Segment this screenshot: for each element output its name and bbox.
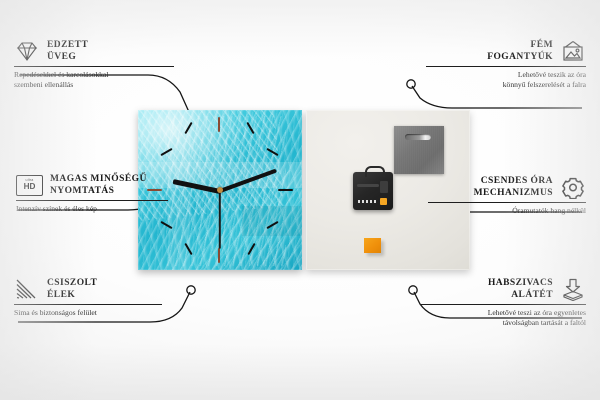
divider <box>420 304 586 305</box>
divider <box>426 66 586 67</box>
feature-desc-2: szembeni ellenállás <box>14 80 174 90</box>
mechanism-label-text <box>358 200 378 203</box>
clock-tick <box>184 122 192 134</box>
mechanism-slit <box>380 181 388 193</box>
divider <box>16 200 168 201</box>
divider <box>14 304 162 305</box>
clock-tick <box>218 117 220 132</box>
feature-desc: Sima és biztonságos felület <box>14 308 162 318</box>
feature-heading: CSENDES ÓRA MECHANIZMUS <box>428 176 586 199</box>
mechanism-loop <box>365 166 385 177</box>
clock-tick <box>278 189 293 191</box>
feature-heading: CSISZOLT ÉLEK <box>14 278 162 301</box>
feature-title: MAGAS MINŐSÉGŰ <box>50 174 147 186</box>
divider <box>14 66 174 67</box>
feature-heading: ultra HD MAGAS MINŐSÉGŰ NYOMTATÁS <box>16 174 168 197</box>
mechanism-slit <box>357 184 379 187</box>
feature-csendes-ora-mechanizmus: CSENDES ÓRA MECHANIZMUS Óramutatók hang … <box>428 176 586 216</box>
gear-icon <box>560 176 586 199</box>
feature-magas-minosegu-nyomtatas: ultra HD MAGAS MINŐSÉGŰ NYOMTATÁS Intenz… <box>16 174 168 214</box>
feature-title-2: NYOMTATÁS <box>50 186 147 198</box>
hanger-slot <box>405 134 431 140</box>
feature-title: FÉM <box>487 40 553 52</box>
minute-hand <box>219 169 277 193</box>
battery-plus-mark <box>380 198 387 205</box>
feature-title: CSISZOLT <box>47 278 97 290</box>
hour-hand <box>173 179 221 194</box>
clock-hub <box>217 187 223 193</box>
feature-desc: Repedésekkel és karcolásokkal <box>14 70 174 80</box>
feature-desc-2: könnyű felszerelését a falra <box>426 80 586 90</box>
feature-heading: HABSZIVACS ALÁTÉT <box>420 278 586 301</box>
clock-tick <box>184 243 192 255</box>
feature-desc-2: távolságban tartását a faltól <box>420 318 586 328</box>
infographic-canvas: EDZETT ÜVEG Repedésekkel és karcolásokka… <box>0 0 600 400</box>
feature-habszivacs-alatet: HABSZIVACS ALÁTÉT Lehetővé teszi az óra … <box>420 278 586 327</box>
feature-heading: EDZETT ÜVEG <box>14 40 174 63</box>
clock-tick <box>266 148 278 156</box>
clock-tick <box>160 221 172 229</box>
foam-pad-arrow-icon <box>560 278 586 301</box>
feature-title-2: ALÁTÉT <box>488 290 553 302</box>
feature-desc: Lehetővé teszi az óra egyenletes <box>420 308 586 318</box>
feature-desc: Intenzív színek és éles kép <box>16 204 168 214</box>
clock-tick <box>246 122 254 134</box>
feature-desc: Lehetővé teszik az óra <box>426 70 586 80</box>
clock-tick <box>218 248 220 263</box>
feature-desc: Óramutatók hang nélkül <box>428 206 586 216</box>
clock-tick <box>160 148 172 156</box>
mechanism-label <box>356 196 390 207</box>
feature-edzett-uveg: EDZETT ÜVEG Repedésekkel és karcolásokka… <box>14 40 174 89</box>
feature-title-2: MECHANIZMUS <box>474 188 553 200</box>
feature-title-2: ÜVEG <box>47 52 88 64</box>
divider <box>428 202 586 203</box>
feature-csiszolt-elek: CSISZOLT ÉLEK Sima és biztonságos felüle… <box>14 278 162 318</box>
quartz-mechanism <box>353 172 393 210</box>
metal-hanger <box>394 126 444 174</box>
feature-title-2: FOGANTYÚK <box>487 52 553 64</box>
feature-title-2: ÉLEK <box>47 290 97 302</box>
diamond-icon <box>14 40 40 63</box>
feature-fem-fogantyuk: FÉM FOGANTYÚK Lehetővé teszik az óra kön… <box>426 40 586 89</box>
polished-edge-icon <box>14 278 40 301</box>
foam-pad <box>364 238 381 253</box>
product-photo <box>138 110 470 270</box>
feature-title: CSENDES ÓRA <box>474 176 553 188</box>
feature-heading: FÉM FOGANTYÚK <box>426 40 586 63</box>
clock-tick <box>247 243 255 255</box>
feature-title: HABSZIVACS <box>488 278 553 290</box>
wall-hanger-icon <box>560 40 586 63</box>
second-hand <box>219 191 221 249</box>
feature-title: EDZETT <box>47 40 88 52</box>
ultra-hd-badge-icon: ultra HD <box>16 175 43 196</box>
clock-tick <box>266 221 278 229</box>
badge-hd-text: HD <box>24 183 36 191</box>
